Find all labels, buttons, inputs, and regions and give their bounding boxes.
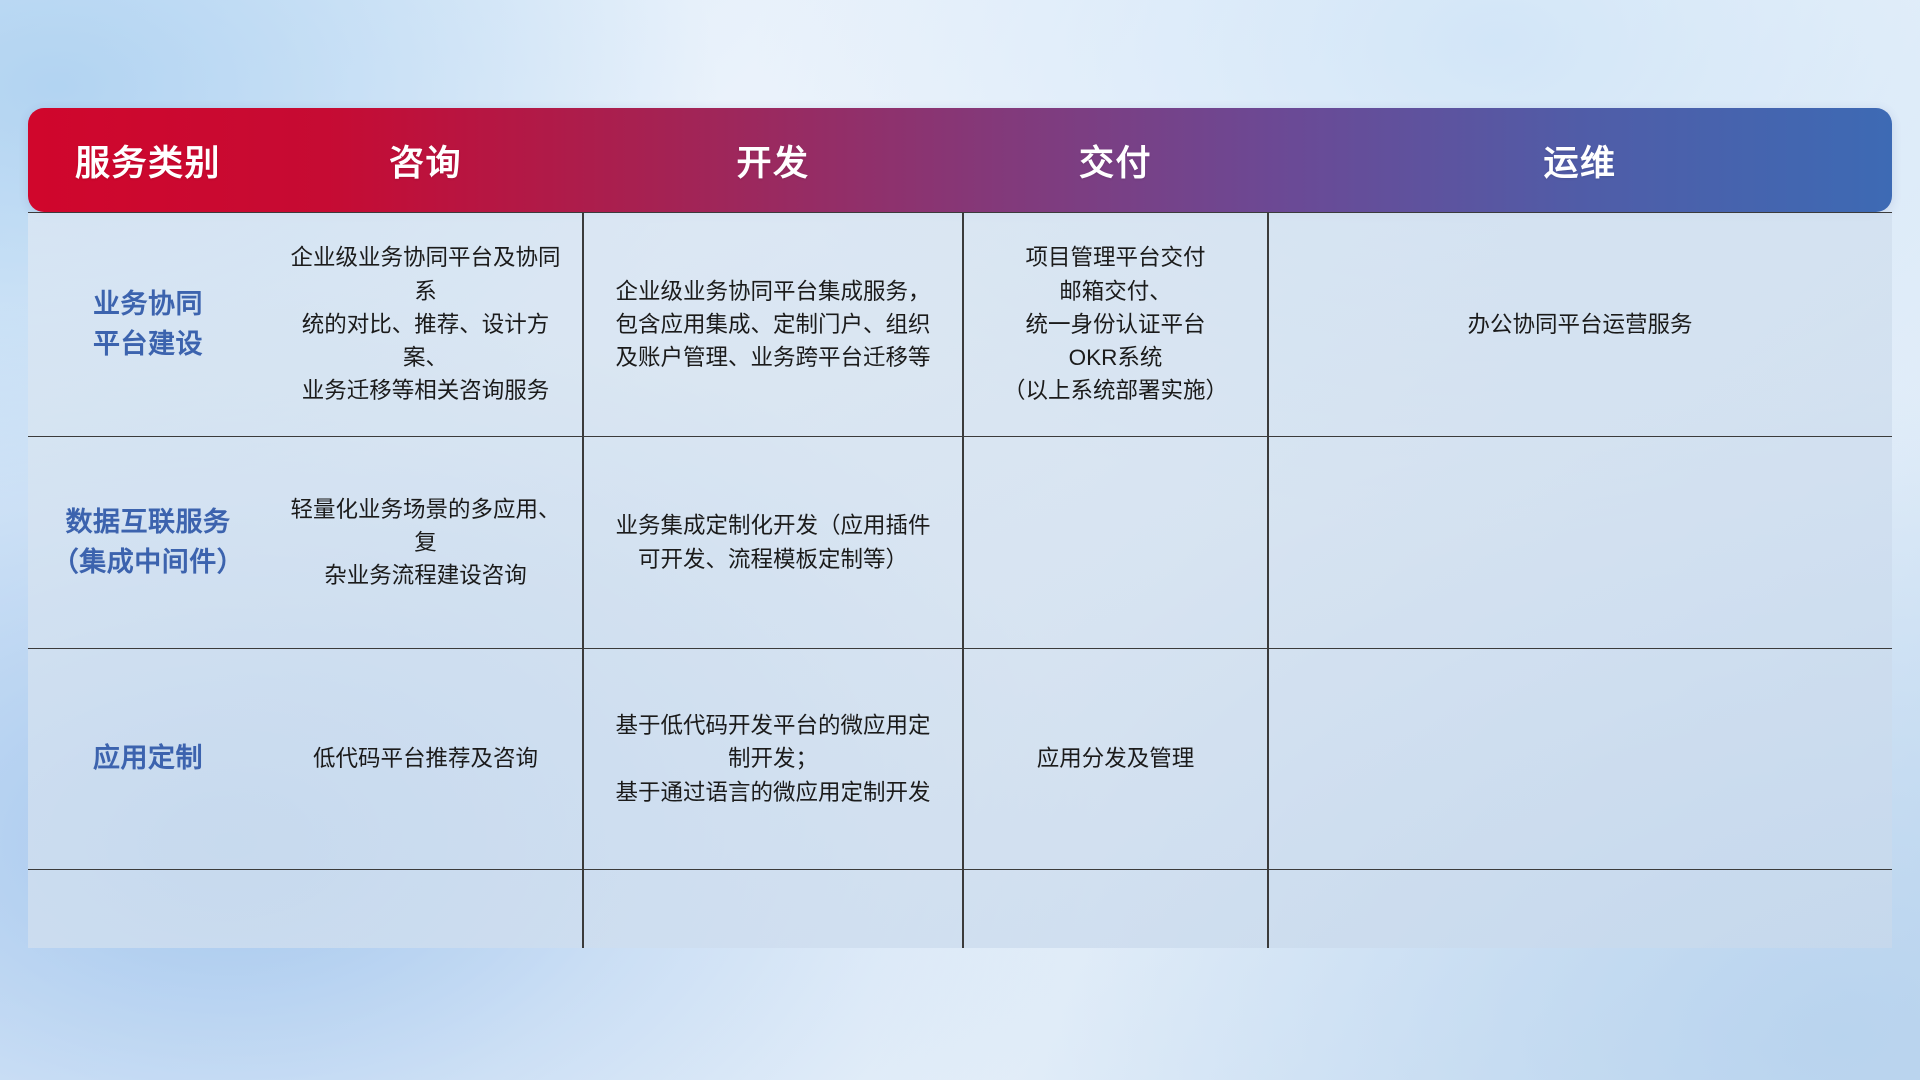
table-row: 应用定制 低代码平台推荐及咨询 基于低代码开发平台的微应用定 制开发； 基于通过… (28, 648, 1892, 870)
column-header-category: 服务类别 (28, 108, 268, 212)
row-label-data-interconnect: 数据互联服务 （集成中间件） (28, 437, 268, 648)
cell-app-custom-operation (1268, 649, 1892, 869)
column-header-delivery: 交付 (963, 108, 1268, 212)
cell-data-interconnect-consult: 轻量化业务场景的多应用、复 杂业务流程建设咨询 (268, 437, 583, 648)
table-row: 业务协同 平台建设 企业级业务协同平台及协同系 统的对比、推荐、设计方案、 业务… (28, 212, 1892, 436)
table-row: 数据互联服务 （集成中间件） 轻量化业务场景的多应用、复 杂业务流程建设咨询 业… (28, 436, 1892, 648)
service-matrix-table: 服务类别 咨询 开发 交付 运维 业务协同 平台建设 企业级业务协同平台及协同系… (28, 108, 1892, 948)
page-root: 服务类别 咨询 开发 交付 运维 业务协同 平台建设 企业级业务协同平台及协同系… (0, 0, 1920, 1080)
column-header-consult: 咨询 (268, 108, 583, 212)
table-header-row: 服务类别 咨询 开发 交付 运维 (28, 108, 1892, 212)
column-header-develop: 开发 (583, 108, 963, 212)
cell-data-interconnect-delivery (963, 437, 1268, 648)
column-header-operation: 运维 (1268, 108, 1892, 212)
cell-biz-collab-operation: 办公协同平台运营服务 (1268, 213, 1892, 436)
cell-biz-collab-consult: 企业级业务协同平台及协同系 统的对比、推荐、设计方案、 业务迁移等相关咨询服务 (268, 213, 583, 436)
cell-biz-collab-delivery: 项目管理平台交付 邮箱交付、 统一身份认证平台 OKR系统 （以上系统部署实施） (963, 213, 1268, 436)
cell-data-interconnect-develop: 业务集成定制化开发（应用插件 可开发、流程模板定制等） (583, 437, 963, 648)
row-label-biz-collab: 业务协同 平台建设 (28, 213, 268, 436)
row-label-app-custom: 应用定制 (28, 649, 268, 869)
cell-app-custom-consult: 低代码平台推荐及咨询 (268, 649, 583, 869)
cell-app-custom-delivery: 应用分发及管理 (963, 649, 1268, 869)
cell-data-interconnect-operation (1268, 437, 1892, 648)
cell-biz-collab-develop: 企业级业务协同平台集成服务， 包含应用集成、定制门户、组织 及账户管理、业务跨平… (583, 213, 963, 436)
table-body: 业务协同 平台建设 企业级业务协同平台及协同系 统的对比、推荐、设计方案、 业务… (28, 212, 1892, 948)
cell-app-custom-develop: 基于低代码开发平台的微应用定 制开发； 基于通过语言的微应用定制开发 (583, 649, 963, 869)
